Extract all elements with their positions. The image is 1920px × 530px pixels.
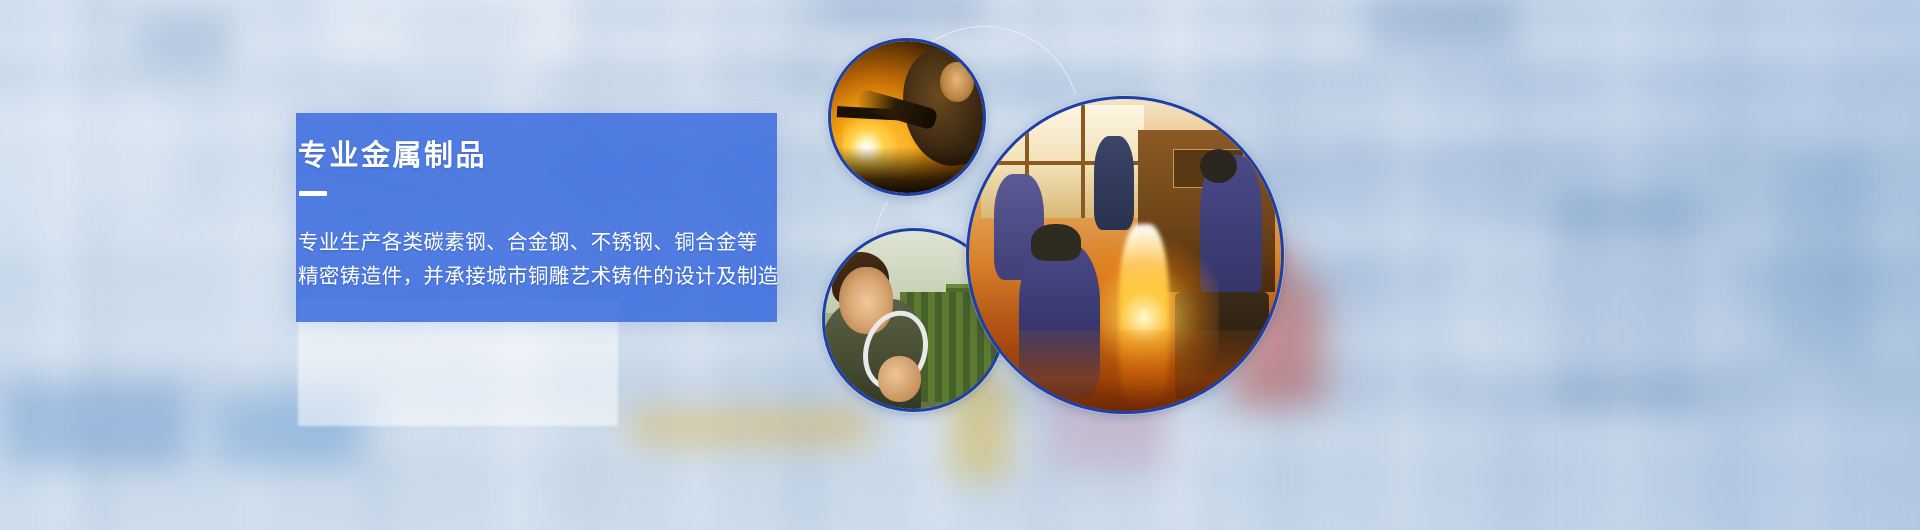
title-divider	[299, 191, 327, 196]
description-line-2: 精密铸造件，并承接城市铜雕艺术铸件的设计及制造	[298, 259, 779, 293]
headline-panel-content: 专业金属制品 专业生产各类碳素钢、合金钢、不锈钢、铜合金等 精密铸造件，并承接城…	[0, 0, 1920, 530]
description-line-1: 专业生产各类碳素钢、合金钢、不锈钢、铜合金等	[298, 225, 779, 259]
panel-description: 专业生产各类碳素钢、合金钢、不锈钢、铜合金等 精密铸造件，并承接城市铜雕艺术铸件…	[298, 225, 779, 293]
page-title: 专业金属制品	[298, 140, 487, 172]
hero-banner: 专业金属制品 专业生产各类碳素钢、合金钢、不锈钢、铜合金等 精密铸造件，并承接城…	[0, 0, 1920, 530]
